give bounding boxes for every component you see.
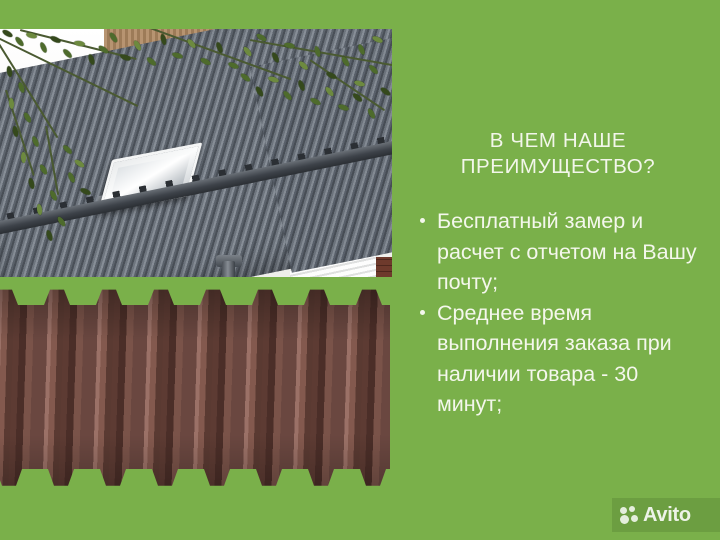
text-column: В ЧЕМ НАШЕ ПРЕИМУЩЕСТВО? Бесплатный заме… [396,0,720,540]
avito-dots-icon [620,506,642,524]
list-item-text: Среднее время выполнения заказа при нали… [437,301,672,417]
advantages-list: Бесплатный замер и расчет с отчетом на В… [406,206,706,420]
sheet-shading [0,283,390,493]
avito-watermark: Avito [612,498,720,532]
list-item-text: Бесплатный замер и расчет с отчетом на В… [437,209,697,294]
list-item: Среднее время выполнения заказа при нали… [406,298,706,420]
brown-corrugated-sheet-photo [0,283,390,493]
metal-roof-photo [0,29,392,277]
slide-canvas: В ЧЕМ НАШЕ ПРЕИМУЩЕСТВО? Бесплатный заме… [0,0,720,540]
list-item: Бесплатный замер и расчет с отчетом на В… [406,206,706,298]
downspout-pipe [222,261,235,277]
bullet-dot-icon [420,218,425,223]
avito-wordmark: Avito [643,504,691,527]
page-title: В ЧЕМ НАШЕ ПРЕИМУЩЕСТВО? [408,128,708,180]
bullet-dot-icon [420,310,425,315]
